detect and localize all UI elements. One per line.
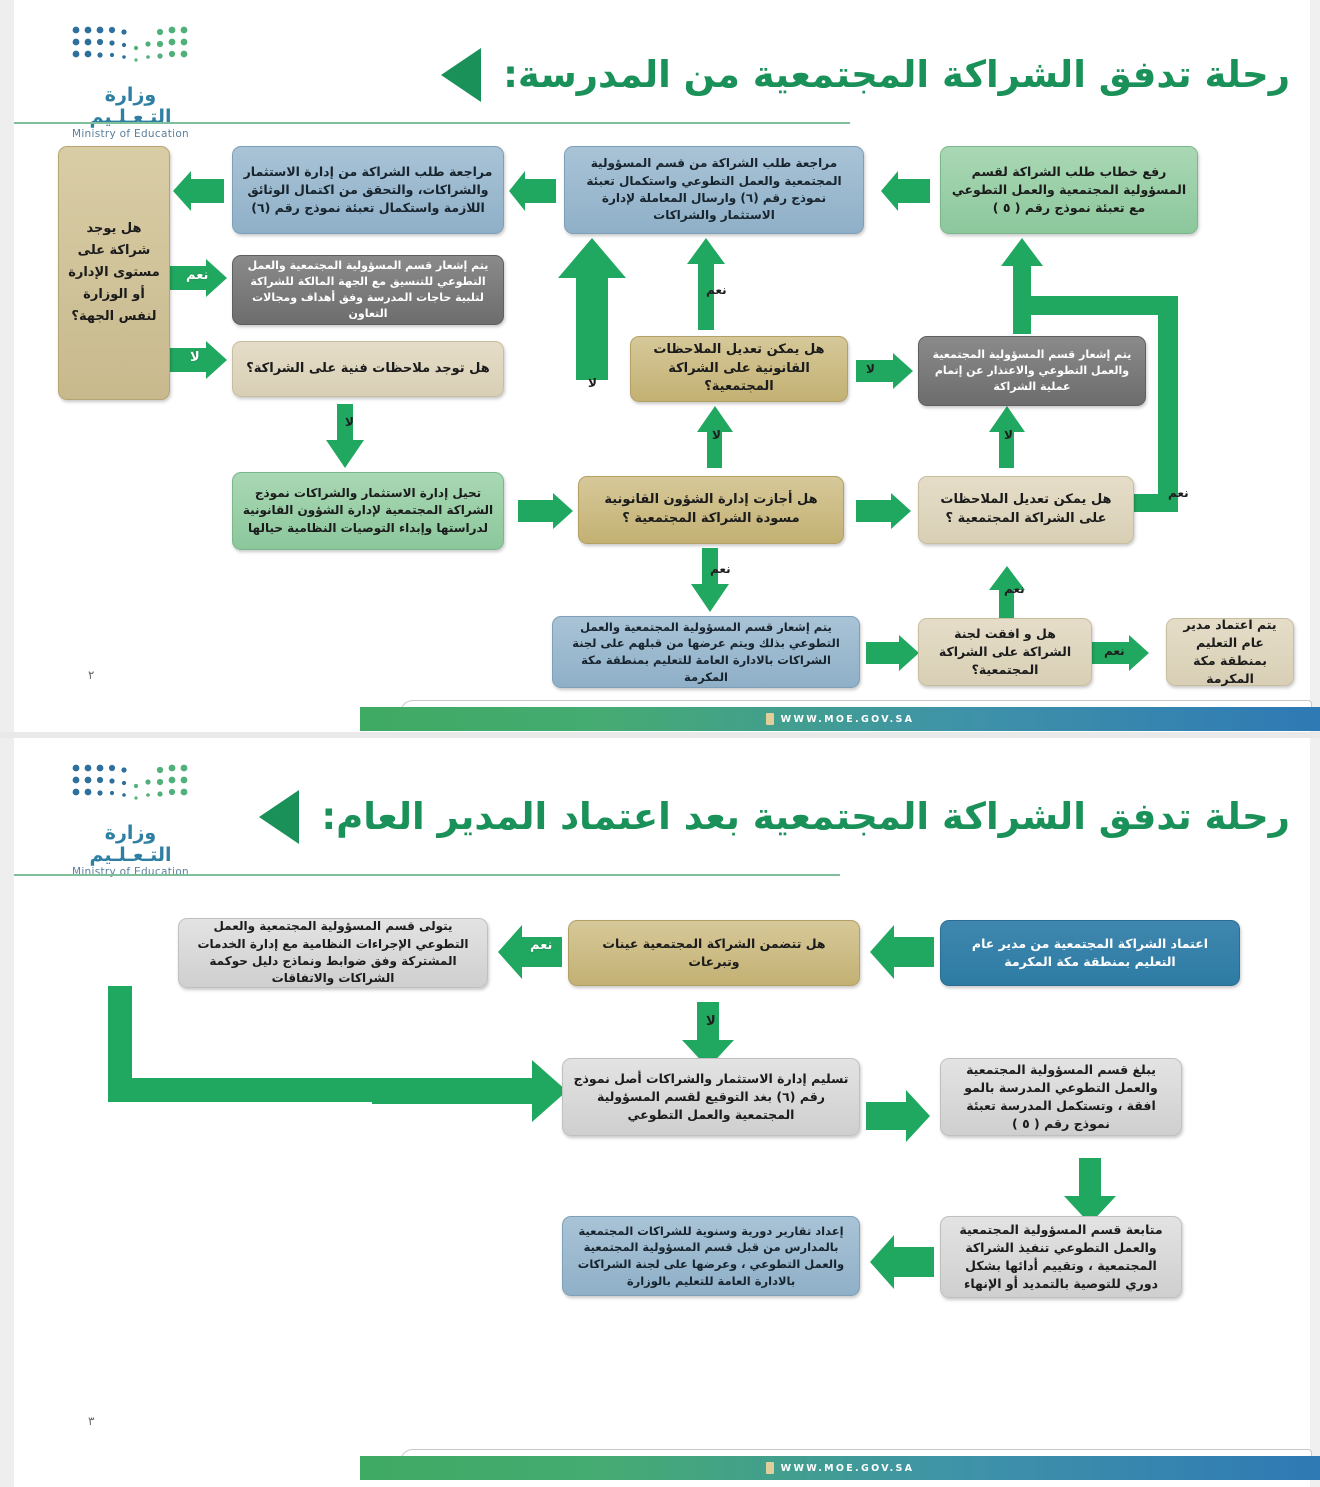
- arrow-start-to-review-dept: [880, 170, 930, 212]
- arrow-inform-to-followup: [1062, 1158, 1118, 1224]
- logo-english-text: Ministry of Education: [63, 128, 198, 140]
- arrow-legalok-to-notesedit: [856, 492, 912, 530]
- connector-notesedit-yes-vertical: [1158, 296, 1178, 512]
- arrow-legaledit-no-to-apology: [856, 352, 914, 390]
- arrow-technical-down-to-legal: [325, 404, 365, 468]
- title-rule-2: [14, 874, 840, 876]
- node-p2-inform[interactable]: يبلغ قسم المسؤولية المجتمعية والعمل التط…: [940, 1058, 1182, 1136]
- arrow-shared-to-deliver: [372, 1058, 568, 1124]
- node-p2-followup[interactable]: متابعة قسم المسؤولية المجتمعية والعمل ال…: [940, 1216, 1182, 1298]
- arrow-right-up-to-start: [1000, 238, 1044, 334]
- edge-label-yes-3: نعم: [1168, 486, 1189, 500]
- chevron-left-icon: [431, 44, 489, 106]
- page-number-2: ٣: [88, 1414, 94, 1428]
- page-right-edge-2: [1310, 738, 1320, 1487]
- node-p1-notify-owner[interactable]: يتم إشعار قسم المسؤولية المجتمعية والعمل…: [232, 255, 504, 325]
- arrow-review-dept-to-invest: [508, 170, 556, 212]
- node-p1-q-technical[interactable]: هل توجد ملاحظات فنية على الشراكة؟: [232, 341, 504, 397]
- page-title-1-text: رحلة تدفق الشراكة المجتمعية من المدرسة:: [503, 55, 1290, 96]
- node-p2-reports[interactable]: إعداد تقارير دورية وسنوية للشراكات المجت…: [562, 1216, 860, 1296]
- node-p1-review-dept[interactable]: مراجعة طلب الشراكة من قسم المسؤولية المج…: [564, 146, 864, 234]
- node-p1-q-legal-ok[interactable]: هل أجازت إدارة الشؤون القانونية مسودة ال…: [578, 476, 844, 544]
- connector-notesedit-yes-horizontal: [1018, 296, 1168, 315]
- logo-english-text-2: Ministry of Education: [63, 866, 198, 878]
- arrow-notify-to-committee: [866, 634, 920, 672]
- node-p2-approved[interactable]: اعتماد الشراكة المجتمعية من مدير عام الت…: [940, 920, 1240, 986]
- slide-page-1: وزارة التـعـلـيم Ministry of Education ر…: [0, 0, 1320, 738]
- node-p1-review-invest[interactable]: مراجعة طلب الشراكة من إدارة الاستثمار وا…: [232, 146, 504, 234]
- page-number-1: ٢: [88, 668, 94, 682]
- arrow-approved-to-gifts: [868, 923, 934, 981]
- node-p1-q-legal-edit[interactable]: هل يمكن تعديل الملاحظات القانونية على ال…: [630, 336, 848, 402]
- node-p1-start[interactable]: رفع خطاب طلب الشراكة لقسم المسؤولية المج…: [940, 146, 1198, 234]
- node-p1-to-legal[interactable]: تحيل إدارة الاستثمار والشراكات نموذج الش…: [232, 472, 504, 550]
- edge-label-no-5: لا: [712, 428, 721, 442]
- edge-label-yes-4: نعم: [710, 562, 731, 576]
- node-p2-q-gifts[interactable]: هل تتضمن الشراكة المجتمعية عينات وتبرعات: [568, 920, 860, 986]
- node-p2-shared[interactable]: يتولى قسم المسؤولية المجتمعية والعمل الت…: [178, 918, 488, 988]
- footer-url-1: WWW.MOE.GOV.SA: [781, 714, 915, 725]
- connector-shared-horizontal: [108, 1078, 388, 1102]
- arrow-followup-to-reports: [868, 1233, 934, 1291]
- edge-label-yes-1: نعم: [186, 268, 208, 283]
- page-right-edge: [1310, 0, 1320, 732]
- logo-dots-icon: [68, 22, 198, 78]
- edge-label-no-4: لا: [345, 415, 354, 429]
- footer-bar-1: WWW.MOE.GOV.SA: [360, 707, 1320, 731]
- node-p1-q-committee[interactable]: هل و افقت لجنة الشراكة على الشراكة المجت…: [918, 618, 1092, 686]
- arrow-deliver-to-inform: [866, 1088, 932, 1144]
- arrow-technical-up-to-review: [556, 238, 628, 380]
- node-p1-q-existing[interactable]: هل يوجد شراكة على مستوى الإدارة أو الوزا…: [58, 146, 170, 400]
- footer-url-2: WWW.MOE.GOV.SA: [781, 1463, 915, 1474]
- ministry-logo-2: وزارة التـعـلـيم Ministry of Education: [28, 760, 198, 878]
- page-title-2: رحلة تدفق الشراكة المجتمعية بعد اعتماد ا…: [249, 786, 1290, 848]
- node-p1-approve[interactable]: يتم اعتماد مدير عام التعليم بمنطقة مكة ا…: [1166, 618, 1294, 686]
- node-p2-deliver[interactable]: تسليم إدارة الاستثمار والشراكات أصل نموذ…: [562, 1058, 860, 1136]
- edge-label-p2-no: لا: [706, 1014, 716, 1029]
- node-p1-apology[interactable]: يتم إشعار قسم المسؤولية المجتمعية والعمل…: [918, 336, 1146, 406]
- connector-notesedit-yes-stub: [1130, 494, 1170, 512]
- footer-bar-2: WWW.MOE.GOV.SA: [360, 1456, 1320, 1480]
- arrow-invest-to-question: [172, 170, 224, 212]
- arrow-tolegal-to-legalok: [518, 492, 574, 530]
- edge-label-yes-2: نعم: [706, 283, 727, 297]
- page-title-1: رحلة تدفق الشراكة المجتمعية من المدرسة:: [431, 44, 1290, 106]
- edge-label-no-7: نعم: [1004, 582, 1025, 596]
- edge-label-no-1: لا: [190, 350, 200, 365]
- page-title-2-text: رحلة تدفق الشراكة المجتمعية بعد اعتماد ا…: [321, 797, 1290, 838]
- edge-label-no-3: لا: [866, 362, 875, 376]
- edge-label-no-2: لا: [588, 376, 597, 390]
- title-rule-1: [14, 122, 850, 124]
- logo-dots-icon-2: [68, 760, 198, 816]
- chevron-left-icon-2: [249, 786, 307, 848]
- edge-label-yes-5: نعم: [1104, 644, 1125, 658]
- edge-label-no-6: لا: [1004, 428, 1013, 442]
- node-p1-q-notes-edit[interactable]: هل يمكن تعديل الملاحظات على الشراكة المج…: [918, 476, 1134, 544]
- footer-book-icon-2: [766, 1462, 774, 1474]
- footer-book-icon: [766, 713, 774, 725]
- slide-page-2: وزارة التـعـلـيم Ministry of Education ر…: [0, 738, 1320, 1487]
- edge-label-p2-yes: نعم: [530, 938, 552, 953]
- node-p1-notify-cmt[interactable]: يتم إشعار قسم المسؤولية المجتمعية والعمل…: [552, 616, 860, 688]
- logo-arabic-text-2: وزارة التـعـلـيم: [63, 822, 198, 866]
- arrow-legalok-down-to-notify: [690, 548, 730, 612]
